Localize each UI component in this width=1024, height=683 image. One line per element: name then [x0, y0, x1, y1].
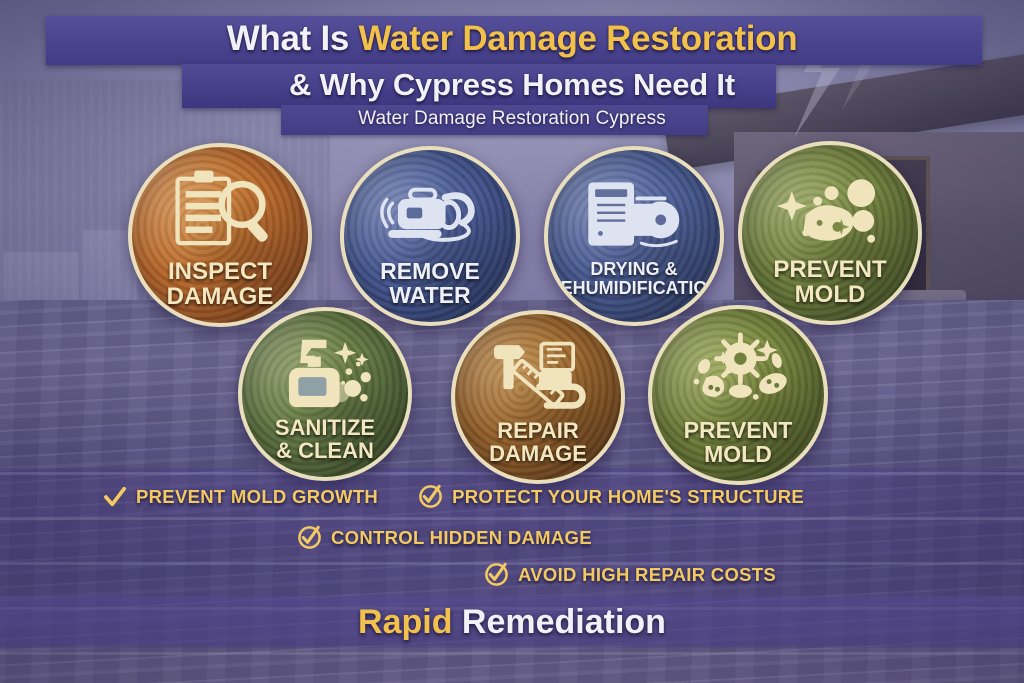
benefit-protect-home-structure[interactable]: PROTECT YOUR HOME'S STRUCTURE — [418, 484, 804, 509]
step-circle-prevent-mold-bottom[interactable]: PREVENTMOLD — [648, 305, 828, 485]
step-circle-drying-dehumidification[interactable]: DRYING &DEHUMIDIFICATION — [544, 146, 724, 326]
step-circle-remove-water[interactable]: REMOVEWATER — [340, 146, 520, 326]
benefit-row: AVOID HIGH REPAIR COSTS — [484, 562, 776, 587]
infographic-poster: What Is Water Damage Restoration & Why C… — [0, 0, 1024, 683]
step-caption-inspect-damage: INSPECTDAMAGE — [161, 260, 280, 310]
step-caption-prevent-mold-top: PREVENTMOLD — [767, 258, 892, 308]
step-caption-line: REMOVE — [380, 260, 480, 284]
check-circle-icon — [484, 562, 509, 587]
benefit-label: CONTROL HIDDEN DAMAGE — [331, 527, 592, 549]
step-circle-repair-damage[interactable]: REPAIRDAMAGE — [451, 310, 625, 484]
page-subtitle: Water Damage Restoration Cypress — [0, 108, 1024, 130]
step-caption-sanitize-clean: SANITIZE& CLEAN — [269, 417, 381, 463]
step-caption-line: WATER — [380, 284, 480, 308]
dehumidifier-airmover-icon — [548, 171, 720, 257]
step-caption-line: & CLEAN — [275, 440, 375, 463]
step-caption-line: INSPECT — [167, 260, 274, 285]
benefit-label: AVOID HIGH REPAIR COSTS — [518, 564, 776, 586]
page-title-line-2: & Why Cypress Homes Need It — [0, 67, 1024, 103]
step-caption-line: MOLD — [684, 443, 793, 467]
step-caption-prevent-mold-bottom: PREVENTMOLD — [678, 419, 799, 467]
step-circle-sanitize-clean[interactable]: SANITIZE& CLEAN — [238, 307, 412, 481]
mold-microbes-icon — [652, 330, 824, 416]
page-title-line-1: What Is Water Damage Restoration — [0, 19, 1024, 59]
step-caption-line: SANITIZE — [275, 417, 375, 440]
check-plain-icon — [103, 486, 127, 508]
step-caption-line: MOLD — [773, 283, 886, 308]
clipboard-magnifier-icon — [132, 168, 308, 256]
step-caption-remove-water: REMOVEWATER — [374, 260, 486, 308]
step-circle-inspect-damage[interactable]: INSPECTDAMAGE — [128, 143, 312, 327]
benefit-prevent-mold-growth[interactable]: PREVENT MOLD GROWTH — [103, 486, 378, 508]
mold-spores-icon — [742, 166, 918, 254]
benefit-control-hidden-damage[interactable]: CONTROL HIDDEN DAMAGE — [297, 525, 592, 550]
step-caption-repair-damage: REPAIRDAMAGE — [483, 420, 593, 466]
benefit-row: PREVENT MOLD GROWTH PROTECT YOUR HOME'S … — [103, 484, 804, 509]
benefit-avoid-high-repair-costs[interactable]: AVOID HIGH REPAIR COSTS — [484, 562, 776, 587]
step-caption-line: PREVENT — [773, 258, 886, 283]
step-circle-prevent-mold-top[interactable]: PREVENTMOLD — [738, 141, 922, 325]
page-title-gold-part: Water Damage Restoration — [358, 19, 797, 58]
check-circle-icon — [418, 484, 443, 509]
step-caption-line: DAMAGE — [167, 285, 274, 310]
water-extractor-icon — [344, 171, 516, 257]
step-caption-line: DRYING & — [548, 260, 721, 279]
check-circle-icon — [297, 525, 322, 550]
brand-name-gold: Rapid — [358, 603, 462, 641]
benefit-row: CONTROL HIDDEN DAMAGE — [297, 525, 592, 550]
step-caption-line: PREVENT — [684, 419, 793, 443]
benefit-label: PROTECT YOUR HOME'S STRUCTURE — [452, 486, 804, 508]
benefit-label: PREVENT MOLD GROWTH — [136, 486, 378, 508]
page-title-white-part: What Is — [227, 19, 359, 58]
step-caption-line: DEHUMIDIFICATION — [548, 279, 721, 298]
step-caption-line: REPAIR — [489, 420, 587, 443]
step-caption-drying-dehumidification: DRYING &DEHUMIDIFICATION — [544, 260, 724, 297]
brand-name-white: Remediation — [462, 603, 666, 641]
brand-footer: Rapid Remediation — [0, 603, 1024, 642]
step-caption-line: DAMAGE — [489, 443, 587, 466]
spray-bottle-icon — [242, 331, 408, 414]
hammer-ruler-saw-icon — [455, 334, 621, 417]
